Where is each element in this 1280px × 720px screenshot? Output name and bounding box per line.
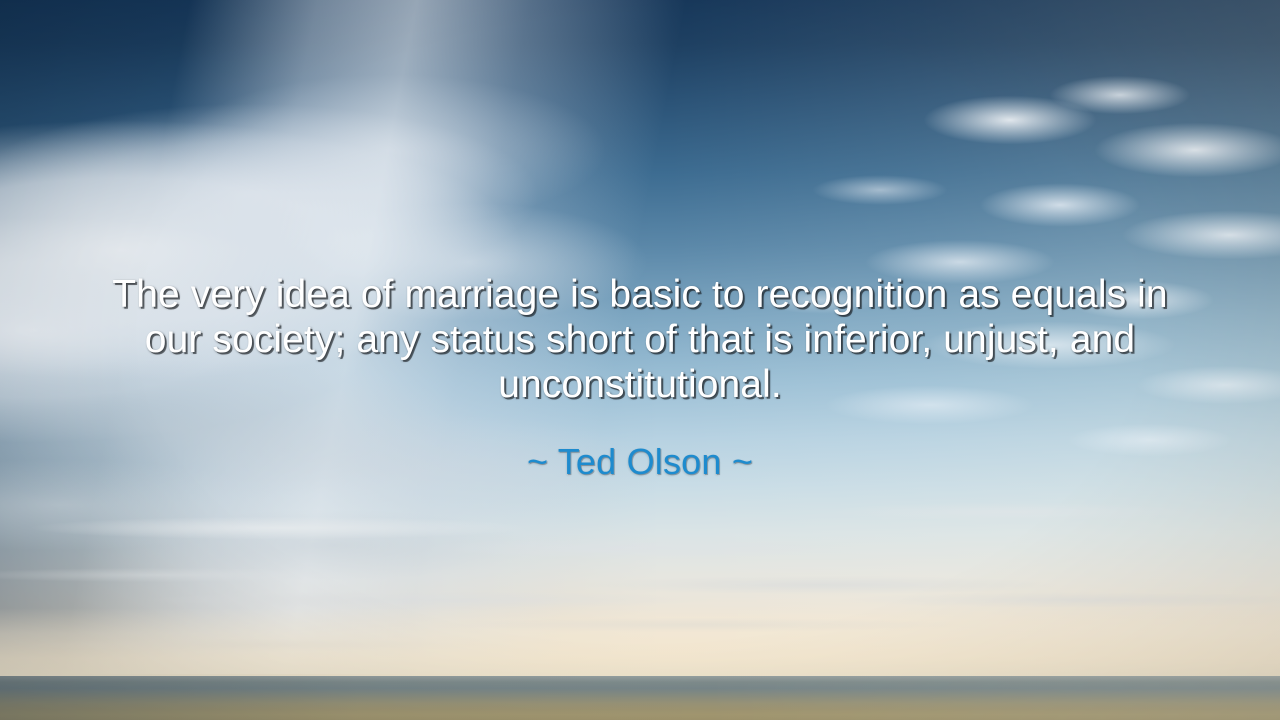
horizon-haze-band xyxy=(0,608,1280,680)
quote-text-block: The very idea of marriage is basic to re… xyxy=(85,272,1195,483)
land-texture xyxy=(0,676,1280,720)
quote-attribution: ~ Ted Olson ~ xyxy=(85,441,1195,483)
land-horizon xyxy=(0,676,1280,720)
quote-card: The very idea of marriage is basic to re… xyxy=(0,0,1280,720)
quote-text: The very idea of marriage is basic to re… xyxy=(85,272,1195,407)
